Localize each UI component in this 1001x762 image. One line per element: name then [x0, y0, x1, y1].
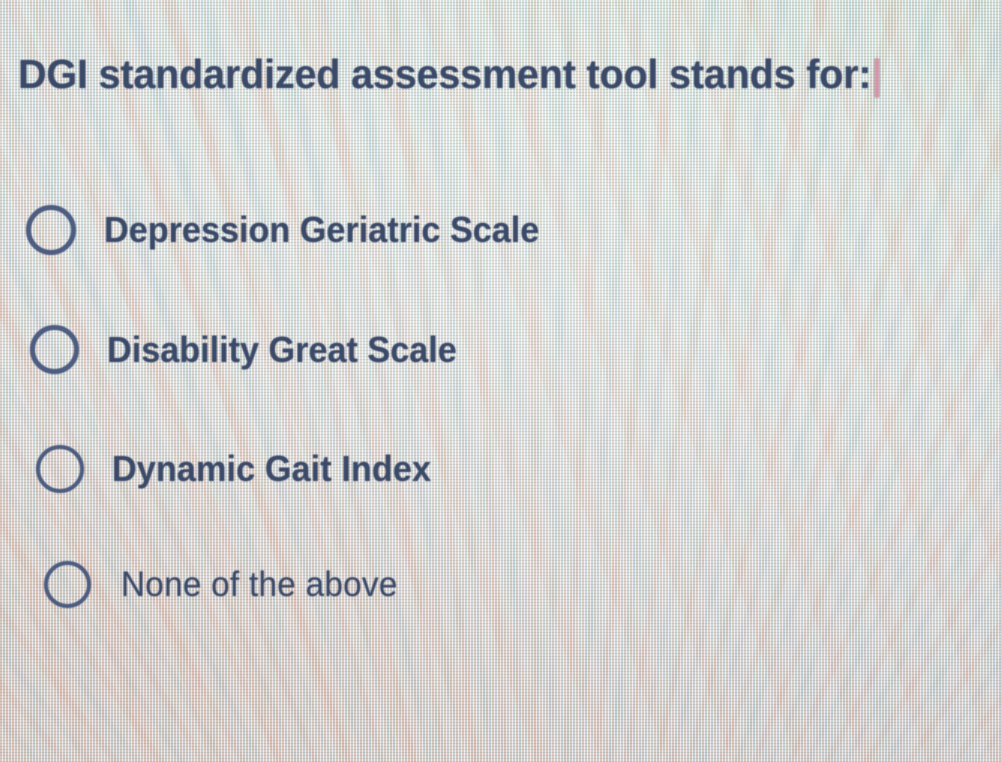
option-label-d[interactable]: None of the above: [121, 563, 398, 607]
quiz-content: DGI standardized assessment tool stands …: [0, 0, 1001, 762]
radio-button-icon[interactable]: [26, 205, 76, 255]
option-label-b[interactable]: Disability Great Scale: [107, 328, 457, 372]
option-row-d[interactable]: None of the above: [44, 561, 412, 608]
radio-button-icon[interactable]: [30, 325, 79, 374]
option-row-c[interactable]: Dynamic Gait Index: [36, 445, 448, 493]
option-label-a[interactable]: Depression Geriatric Scale: [104, 208, 539, 252]
radio-button-icon[interactable]: [44, 561, 91, 608]
option-row-b[interactable]: Disability Great Scale: [30, 325, 475, 374]
answer-options-list: Depression Geriatric Scale Disability Gr…: [0, 0, 1001, 762]
photographed-screen: DGI standardized assessment tool stands …: [0, 0, 1001, 762]
option-row-a[interactable]: Depression Geriatric Scale: [26, 205, 562, 255]
radio-button-icon[interactable]: [36, 445, 84, 493]
option-label-c[interactable]: Dynamic Gait Index: [112, 447, 431, 491]
